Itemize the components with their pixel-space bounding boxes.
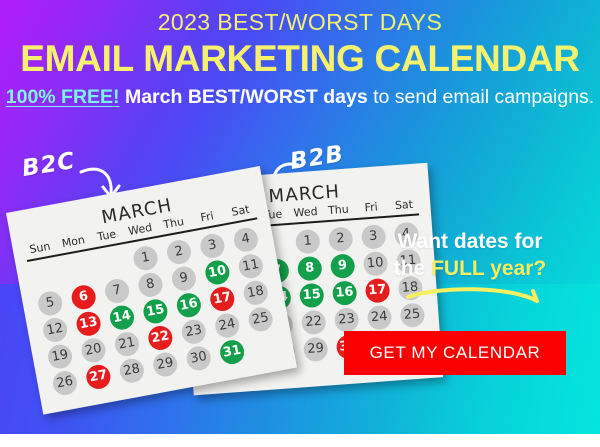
calendar-b2c-day-number: 30 <box>185 344 213 372</box>
calendar-b2c-day[interactable]: 20 <box>74 334 112 365</box>
email-marketing-calendar-ad: 2023 BEST/WORST DAYS EMAIL MARKETING CAL… <box>0 0 600 447</box>
calendar-b2c-day[interactable]: 13 <box>69 308 107 339</box>
calendar-b2c-day-number: 19 <box>46 342 74 370</box>
calendar-b2c-day[interactable]: 14 <box>103 302 141 333</box>
calendar-b2b-weekday: Fri <box>354 200 388 215</box>
calendar-b2c-day-number: 28 <box>118 356 146 384</box>
subheadline: 100% FREE! March BEST/WORST days to send… <box>0 85 600 110</box>
calendar-b2c-day[interactable]: 28 <box>113 355 151 386</box>
calendar-b2c-day-number: 13 <box>74 309 102 337</box>
calendar-b2c-day-number: 21 <box>113 330 141 358</box>
calendar-b2c-blank-cell <box>60 255 98 286</box>
calendar-b2c-day-number: 2 <box>165 238 193 266</box>
calendar-b2c-day[interactable]: 12 <box>36 314 74 345</box>
calendar-b2b-day[interactable]: 23 <box>329 306 364 333</box>
calendar-b2c-day[interactable]: 15 <box>136 296 174 327</box>
calendar-b2c-day[interactable]: 24 <box>208 310 246 341</box>
calendar-b2c-day-number: 1 <box>132 244 160 272</box>
calendar-b2c-day[interactable]: 8 <box>131 269 169 300</box>
calendar-b2c-day[interactable]: 7 <box>98 275 136 306</box>
calendar-b2b-weekday: Thu <box>322 202 356 217</box>
calendar-b2b-day-number: 15 <box>299 282 325 308</box>
calendar-b2c-day-number: 17 <box>208 285 236 313</box>
calendar-b2b-day[interactable]: 8 <box>292 254 327 281</box>
calendar-b2c-day[interactable]: 30 <box>180 342 218 373</box>
calendar-b2c-day[interactable]: 29 <box>146 349 184 380</box>
calendar-b2c-day[interactable]: 6 <box>65 281 103 312</box>
calendar-b2c-day-number: 18 <box>242 278 270 306</box>
calendar-b2c-day-number: 7 <box>103 277 131 305</box>
calendar-b2c-day-number: 5 <box>36 289 64 317</box>
calendar-b2c-day[interactable]: 1 <box>127 242 165 273</box>
calendar-b2b-day-number: 16 <box>332 280 358 306</box>
underline-swoosh-icon <box>406 284 546 308</box>
calendar-b2b-day-number: 2 <box>328 226 354 252</box>
calendar-b2c-day-number: 11 <box>237 252 265 280</box>
calendar-b2c-day[interactable]: 19 <box>41 341 79 372</box>
free-badge-text: 100% FREE! <box>6 86 120 108</box>
calendar-b2c-day-number: 22 <box>146 323 174 351</box>
calendar-b2c-day[interactable]: 21 <box>108 328 146 359</box>
calendar-b2c-day[interactable]: 2 <box>160 236 198 267</box>
calendar-b2c-day-number: 8 <box>136 270 164 298</box>
kicker-text: 2023 BEST/WORST DAYS <box>0 9 600 35</box>
calendar-b2c-blank-cell <box>26 261 64 292</box>
calendar-b2b-day[interactable]: 15 <box>294 281 329 308</box>
calendar-b2c-day-number: 23 <box>180 317 208 345</box>
page-title: EMAIL MARKETING CALENDAR <box>0 38 600 79</box>
cta-block: Want dates for the FULL year? <box>352 228 588 282</box>
calendar-b2c-day-number: 10 <box>203 258 231 286</box>
calendar-b2c-day[interactable]: 23 <box>175 316 213 347</box>
calendar-b2c-day-number: 29 <box>151 350 179 378</box>
calendar-b2c-day[interactable]: 17 <box>203 283 241 314</box>
calendar-b2c-day[interactable]: 4 <box>227 224 265 255</box>
calendar-b2c-day[interactable]: 10 <box>198 257 236 288</box>
calendar-b2c-day[interactable]: 5 <box>31 288 69 319</box>
calendar-b2c-day-number: 14 <box>108 303 136 331</box>
calendar-b2b-day-number: 22 <box>301 309 327 335</box>
bottom-white-strip <box>0 434 600 447</box>
calendar-b2b-day[interactable]: 29 <box>298 335 333 362</box>
calendar-b2b-weekday: Wed <box>289 205 323 220</box>
calendar-b2b-day-number: 29 <box>303 336 329 362</box>
calendar-b2b-weekday: Sat <box>387 197 421 212</box>
calendar-b2c-day-number: 24 <box>213 311 241 339</box>
calendar-b2c-day-number: 9 <box>170 264 198 292</box>
calendar-b2c-day-number: 25 <box>247 305 275 333</box>
cta-line-2-plain: the <box>394 257 431 280</box>
calendar-b2c-day[interactable]: 11 <box>232 250 270 281</box>
calendar-b2c-day-number: 20 <box>79 336 107 364</box>
get-my-calendar-button[interactable]: GET MY CALENDAR <box>344 331 566 375</box>
calendar-b2c-day[interactable]: 18 <box>237 277 275 308</box>
calendar-b2b-day[interactable]: 24 <box>362 303 397 330</box>
calendar-b2b-day-number: 1 <box>295 228 321 254</box>
calendar-b2b-day[interactable]: 22 <box>296 308 331 335</box>
calendar-b2c-day-number: 6 <box>70 283 98 311</box>
calendar-b2c-day-number: 31 <box>218 338 246 366</box>
calendar-b2c-day-number: 4 <box>232 225 260 253</box>
calendar-b2c-day-number: 15 <box>141 297 169 325</box>
header: 2023 BEST/WORST DAYS EMAIL MARKETING CAL… <box>0 0 600 110</box>
cta-line-2: the FULL year? <box>352 255 588 282</box>
cta-line-2-highlight: FULL year? <box>431 257 546 280</box>
calendar-b2c-day[interactable]: 9 <box>165 263 203 294</box>
calendar-b2b-day-number: 24 <box>366 304 392 330</box>
calendar-b2c-day-number: 27 <box>84 362 112 390</box>
calendar-b2c-day[interactable]: 22 <box>141 322 179 353</box>
calendar-b2c-day-number: 3 <box>198 231 226 259</box>
subheadline-bold: March BEST/WORST days <box>125 86 368 108</box>
calendar-b2c-blank-cell <box>93 249 131 280</box>
cta-line-1: Want dates for <box>352 228 588 255</box>
calendar-b2b-day[interactable]: 16 <box>327 279 362 306</box>
calendar-b2b-day-number: 8 <box>297 255 323 281</box>
calendar-b2b-day[interactable]: 1 <box>290 227 325 254</box>
calendar-b2c-day-number: 12 <box>41 316 69 344</box>
calendar-b2c-day[interactable]: 26 <box>46 367 84 398</box>
calendar-b2c-day-number: 26 <box>51 369 79 397</box>
calendar-b2c-day[interactable]: 27 <box>79 361 117 392</box>
calendar-b2c-day[interactable]: 16 <box>170 289 208 320</box>
calendar-b2c-day-number: 16 <box>175 291 203 319</box>
calendar-b2c-day[interactable]: 25 <box>242 303 280 334</box>
calendar-b2c-day[interactable]: 3 <box>193 230 231 261</box>
subheadline-light: to send email campaigns. <box>368 86 595 108</box>
calendar-b2b-day-number: 23 <box>334 307 360 333</box>
calendar-b2c-day[interactable]: 31 <box>213 336 251 367</box>
